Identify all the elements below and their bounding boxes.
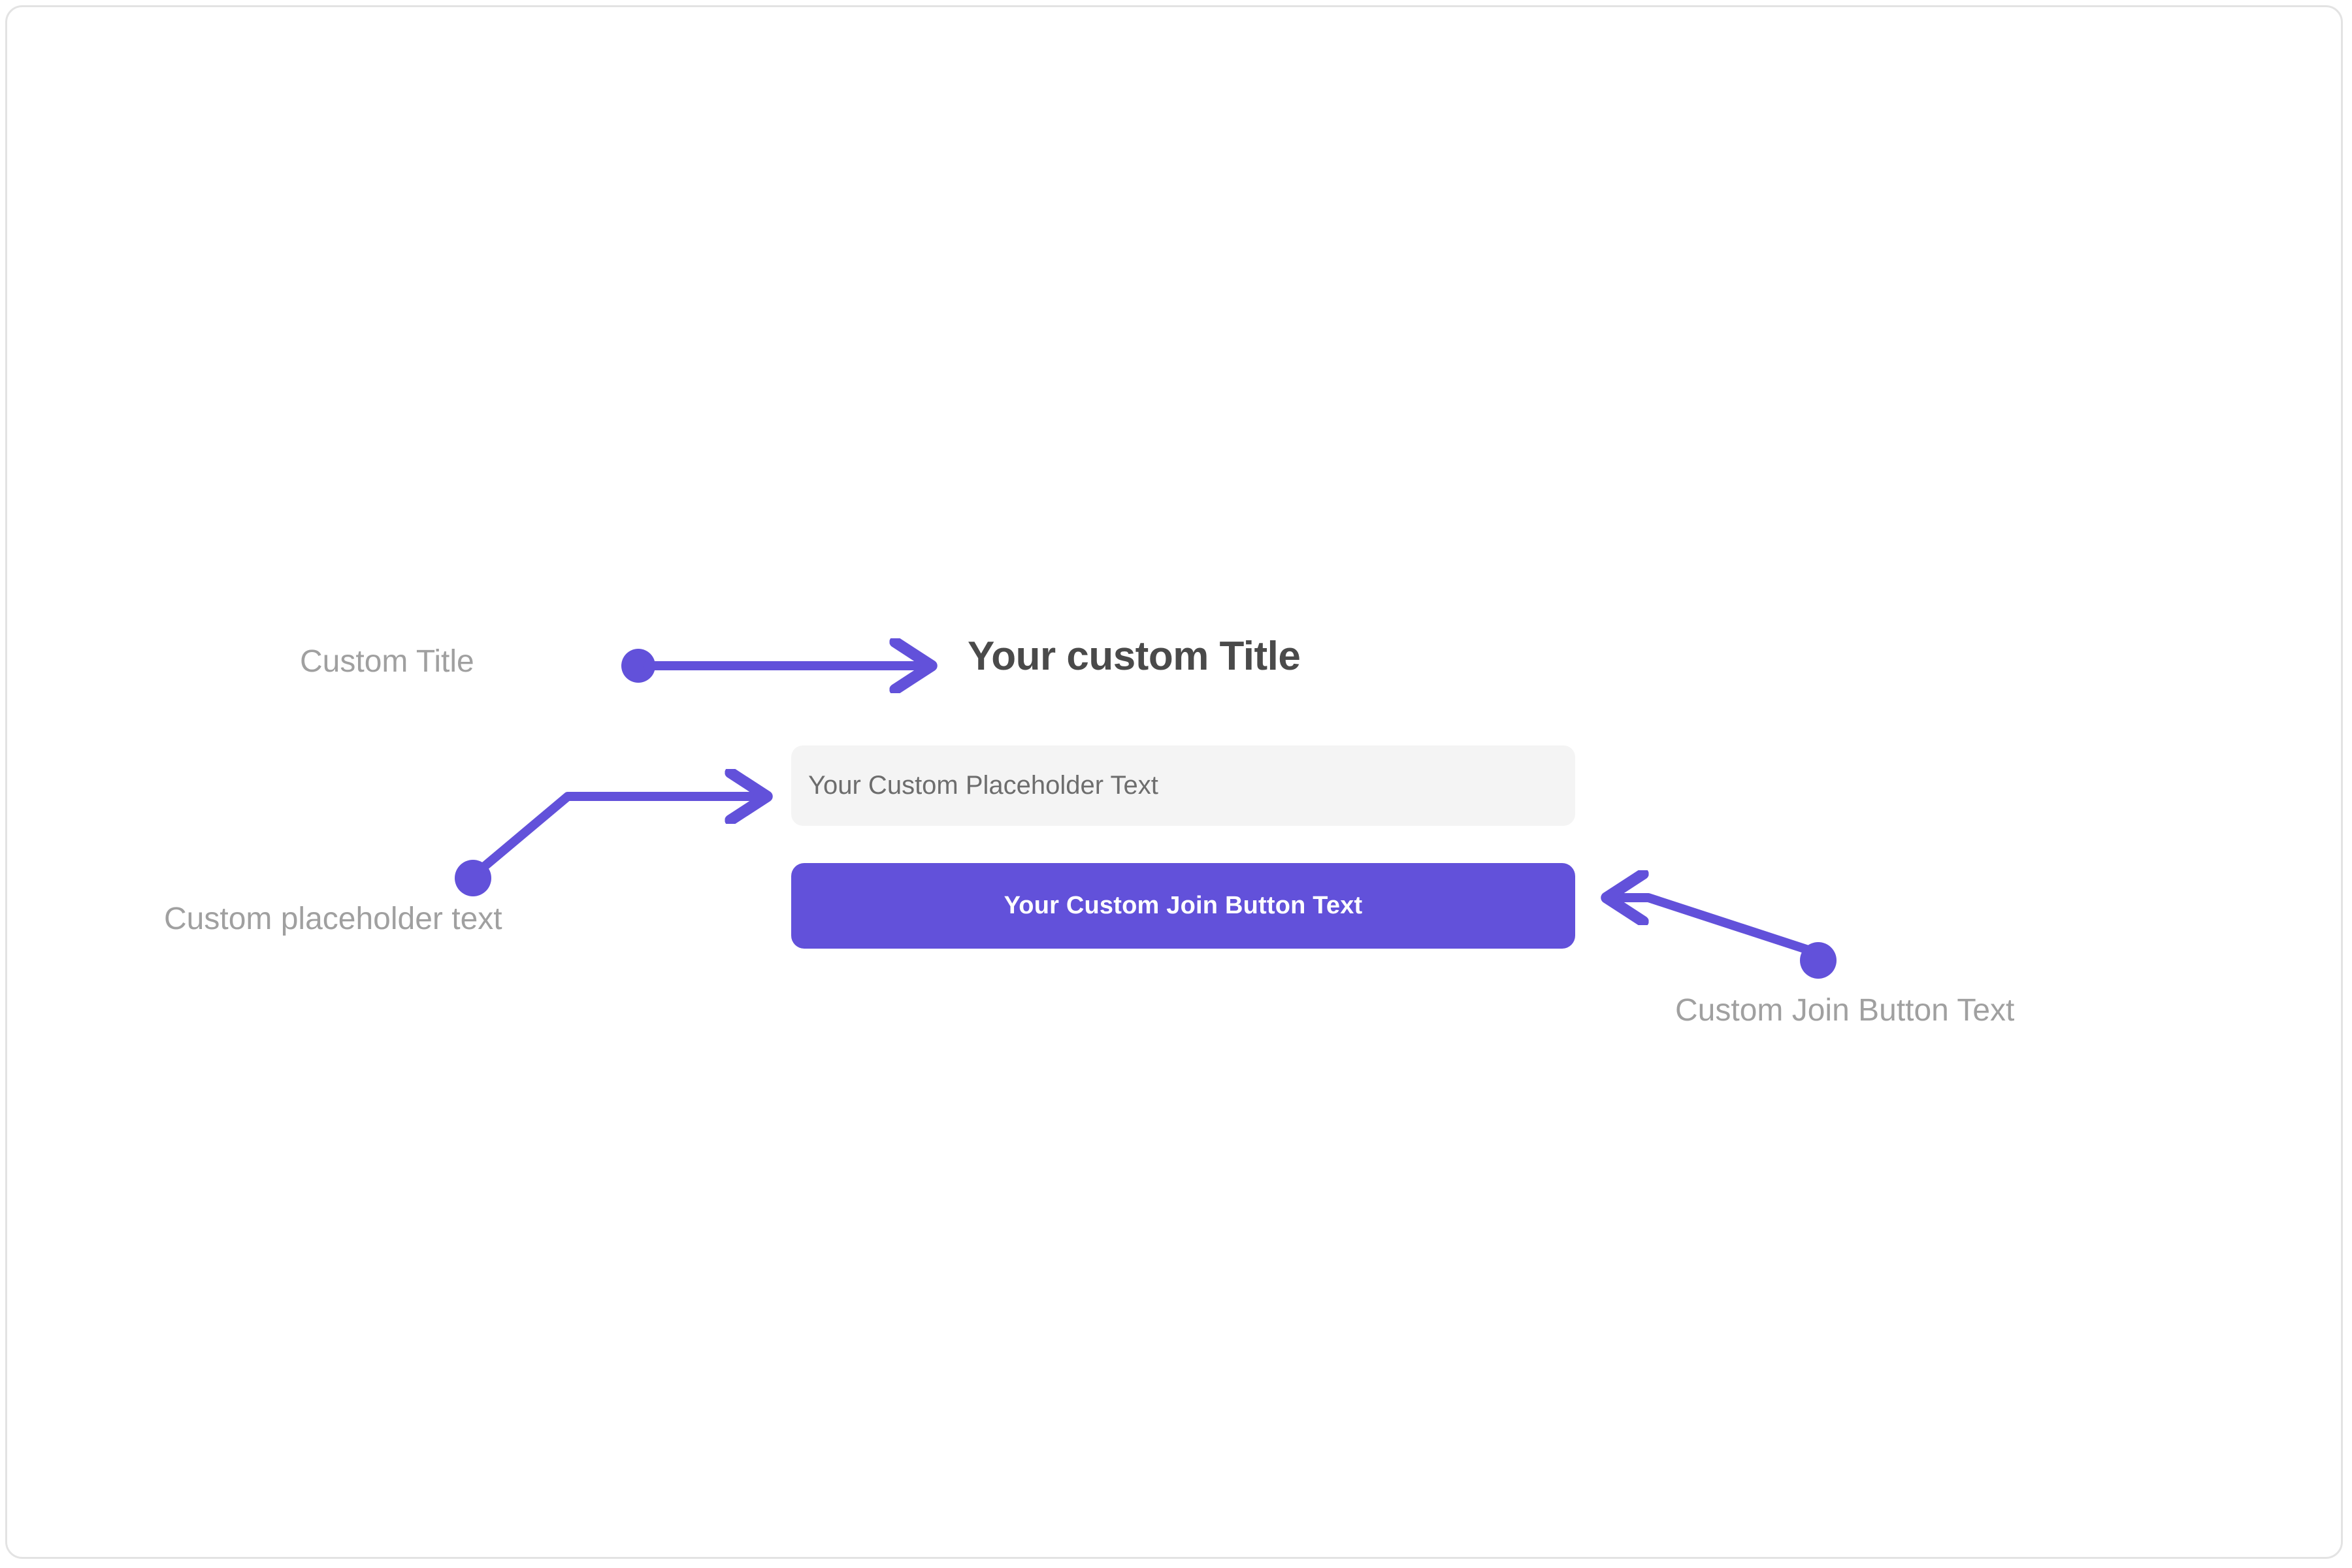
annotation-arrow-title xyxy=(621,649,932,683)
annotation-arrow-join xyxy=(1607,898,1837,979)
annotation-label-join: Custom Join Button Text xyxy=(1675,995,2014,1026)
email-input[interactable] xyxy=(791,745,1575,826)
widget-preview: Your custom Title Your Custom Join Butto… xyxy=(7,7,2341,1557)
annotation-label-placeholder: Custom placeholder text xyxy=(164,904,502,935)
annotation-arrow-placeholder xyxy=(455,796,767,896)
widget-title: Your custom Title xyxy=(968,636,1300,677)
join-button[interactable]: Your Custom Join Button Text xyxy=(791,863,1575,949)
preview-card-frame: Your custom Title Your Custom Join Butto… xyxy=(5,5,2343,1559)
annotation-label-title: Custom Title xyxy=(300,646,474,678)
